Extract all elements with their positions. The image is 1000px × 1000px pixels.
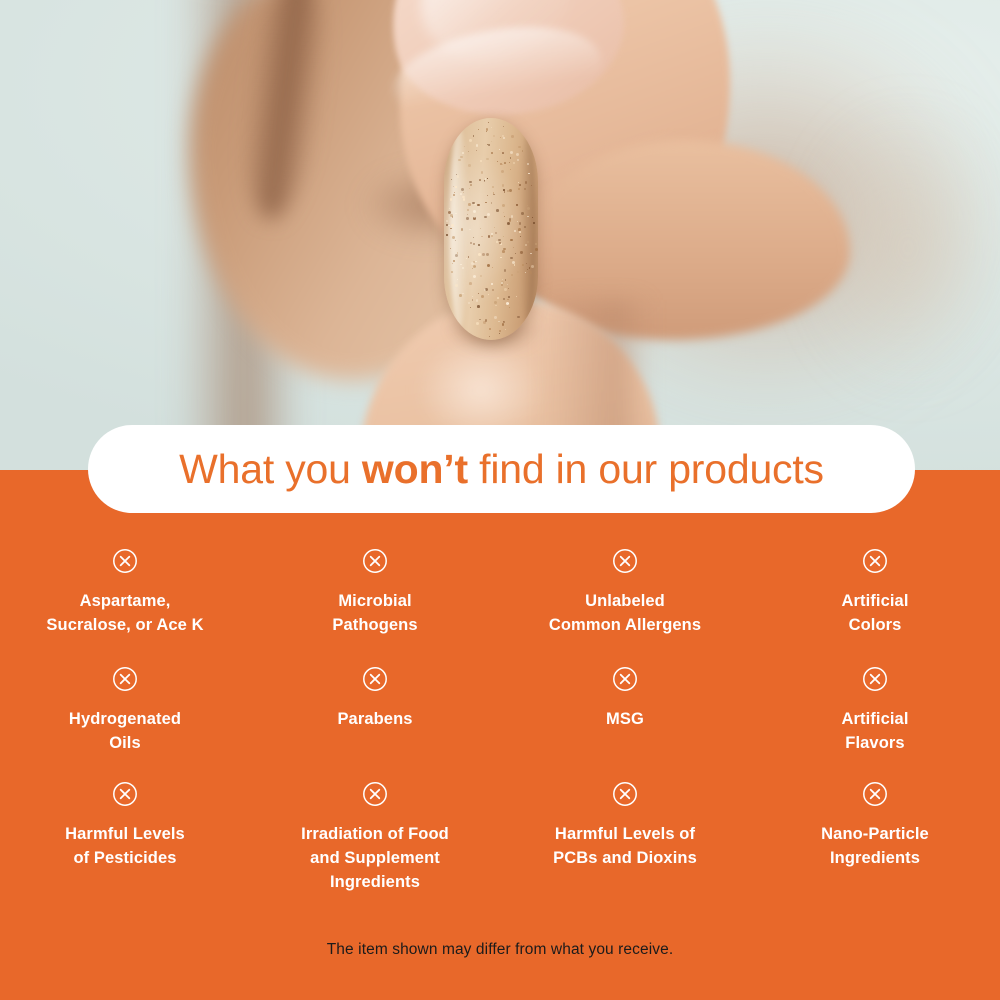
claim-label: UnlabeledCommon Allergens (549, 590, 701, 638)
page-title: What you won’t find in our products (179, 449, 824, 490)
claim-item: Harmful Levelsof Pesticides (0, 781, 250, 901)
claim-label: ArtificialColors (841, 590, 908, 638)
circle-x-icon (612, 548, 638, 574)
claim-label: Harmful Levels ofPCBs and Dioxins (553, 823, 697, 871)
claim-label: Parabens (337, 708, 412, 732)
disclaimer-text: The item shown may differ from what you … (0, 941, 1000, 959)
claim-item: Aspartame,Sucralose, or Ace K (0, 548, 250, 666)
tablet-right-shadow (520, 132, 536, 328)
claim-item: UnlabeledCommon Allergens (500, 548, 750, 666)
circle-x-icon (112, 548, 138, 574)
claim-label: Harmful Levelsof Pesticides (65, 823, 185, 871)
headline-part-2: find in our products (468, 446, 824, 492)
circle-x-icon (362, 666, 388, 692)
circle-x-icon (612, 781, 638, 807)
circle-x-icon (362, 548, 388, 574)
claim-item: Harmful Levels ofPCBs and Dioxins (500, 781, 750, 901)
circle-x-icon (612, 666, 638, 692)
circle-x-icon (862, 781, 888, 807)
claim-item: MicrobialPathogens (250, 548, 500, 666)
claim-label: Aspartame,Sucralose, or Ace K (46, 590, 203, 638)
circle-x-icon (362, 781, 388, 807)
claim-item: Irradiation of Foodand SupplementIngredi… (250, 781, 500, 901)
claim-item: HydrogenatedOils (0, 666, 250, 781)
headline-emphasis: won’t (362, 446, 468, 492)
claim-label: ArtificialFlavors (841, 708, 908, 756)
claim-label: Nano-ParticleIngredients (821, 823, 929, 871)
product-claims-infographic: What you won’t find in our products Aspa… (0, 0, 1000, 1000)
circle-x-icon (862, 666, 888, 692)
circle-x-icon (112, 666, 138, 692)
claim-item: Nano-ParticleIngredients (750, 781, 1000, 901)
claim-label: HydrogenatedOils (69, 708, 181, 756)
claim-label: MSG (606, 708, 644, 732)
claim-item: Parabens (250, 666, 500, 781)
photo-supplement-tablet (444, 118, 538, 340)
claim-item: ArtificialFlavors (750, 666, 1000, 781)
claim-label: MicrobialPathogens (332, 590, 417, 638)
photo-background-warm-glow-2 (820, 120, 1000, 440)
claim-item: ArtificialColors (750, 548, 1000, 666)
circle-x-icon (862, 548, 888, 574)
claim-item: MSG (500, 666, 750, 781)
headline-part-1: What you (179, 446, 362, 492)
headline-pill: What you won’t find in our products (88, 425, 915, 513)
circle-x-icon (112, 781, 138, 807)
hero-photo (0, 0, 1000, 472)
claim-label: Irradiation of Foodand SupplementIngredi… (301, 823, 449, 895)
claims-grid: Aspartame,Sucralose, or Ace K MicrobialP… (0, 548, 1000, 901)
